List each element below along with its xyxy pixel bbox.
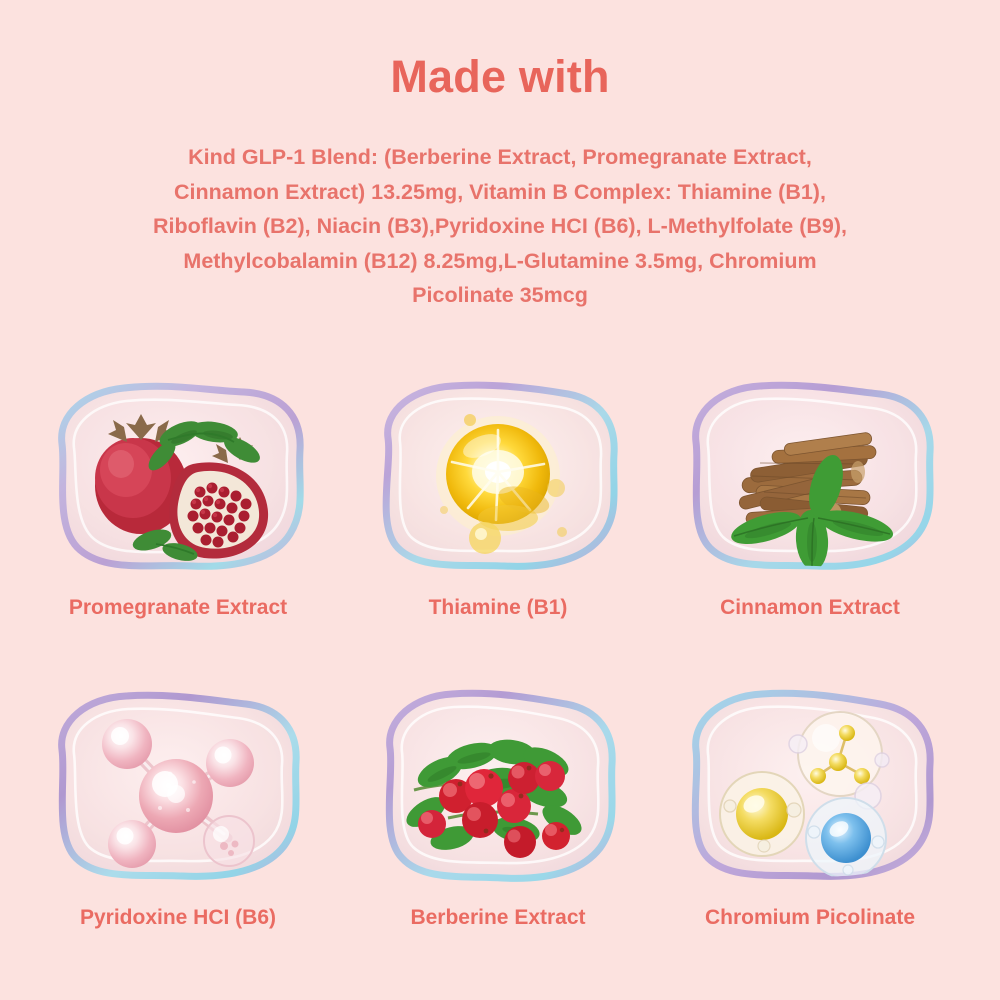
ingredient-label: Pyridoxine HCI (B6) bbox=[28, 906, 328, 930]
bubble-blob bbox=[28, 678, 328, 894]
ingredient-row-2: Pyridoxine HCI (B6) bbox=[0, 678, 1000, 988]
ingredient-card-promegranate[interactable]: Promegranate Extract bbox=[28, 368, 328, 584]
description-line: Kind GLP-1 Blend: (Berberine Extract, Pr… bbox=[112, 140, 888, 175]
bubble-blob bbox=[28, 368, 328, 584]
ingredient-label: Chromium Picolinate bbox=[660, 906, 960, 930]
ingredients-infographic: Made with Kind GLP-1 Blend: (Berberine E… bbox=[0, 0, 1000, 1000]
bubble-blob bbox=[660, 368, 960, 584]
ingredient-card-chromium[interactable]: Chromium Picolinate bbox=[660, 678, 960, 894]
ingredient-label: Thiamine (B1) bbox=[348, 596, 648, 620]
ingredient-label: Promegranate Extract bbox=[28, 596, 328, 620]
ingredient-card-berberine[interactable]: Berberine Extract bbox=[348, 678, 648, 894]
ingredient-card-pyridoxine[interactable]: Pyridoxine HCI (B6) bbox=[28, 678, 328, 894]
bubble-blob bbox=[660, 678, 960, 894]
bubble-blob bbox=[348, 368, 648, 584]
description-line: Riboflavin (B2), Niacin (B3),Pyridoxine … bbox=[112, 209, 888, 244]
ingredient-label: Berberine Extract bbox=[348, 906, 648, 930]
description-line: Picolinate 35mcg bbox=[112, 278, 888, 313]
ingredient-card-thiamine[interactable]: Thiamine (B1) bbox=[348, 368, 648, 584]
ingredient-description: Kind GLP-1 Blend: (Berberine Extract, Pr… bbox=[112, 140, 888, 313]
ingredient-label: Cinnamon Extract bbox=[660, 596, 960, 620]
page-title: Made with bbox=[0, 52, 1000, 102]
description-line: Cinnamon Extract) 13.25mg, Vitamin B Com… bbox=[112, 175, 888, 210]
ingredient-row-1: Promegranate Extract bbox=[0, 368, 1000, 678]
ingredient-grid: Promegranate Extract bbox=[0, 368, 1000, 988]
ingredient-card-cinnamon[interactable]: Cinnamon Extract bbox=[660, 368, 960, 584]
description-line: Methylcobalamin (B12) 8.25mg,L-Glutamine… bbox=[112, 244, 888, 279]
bubble-blob bbox=[348, 678, 648, 894]
